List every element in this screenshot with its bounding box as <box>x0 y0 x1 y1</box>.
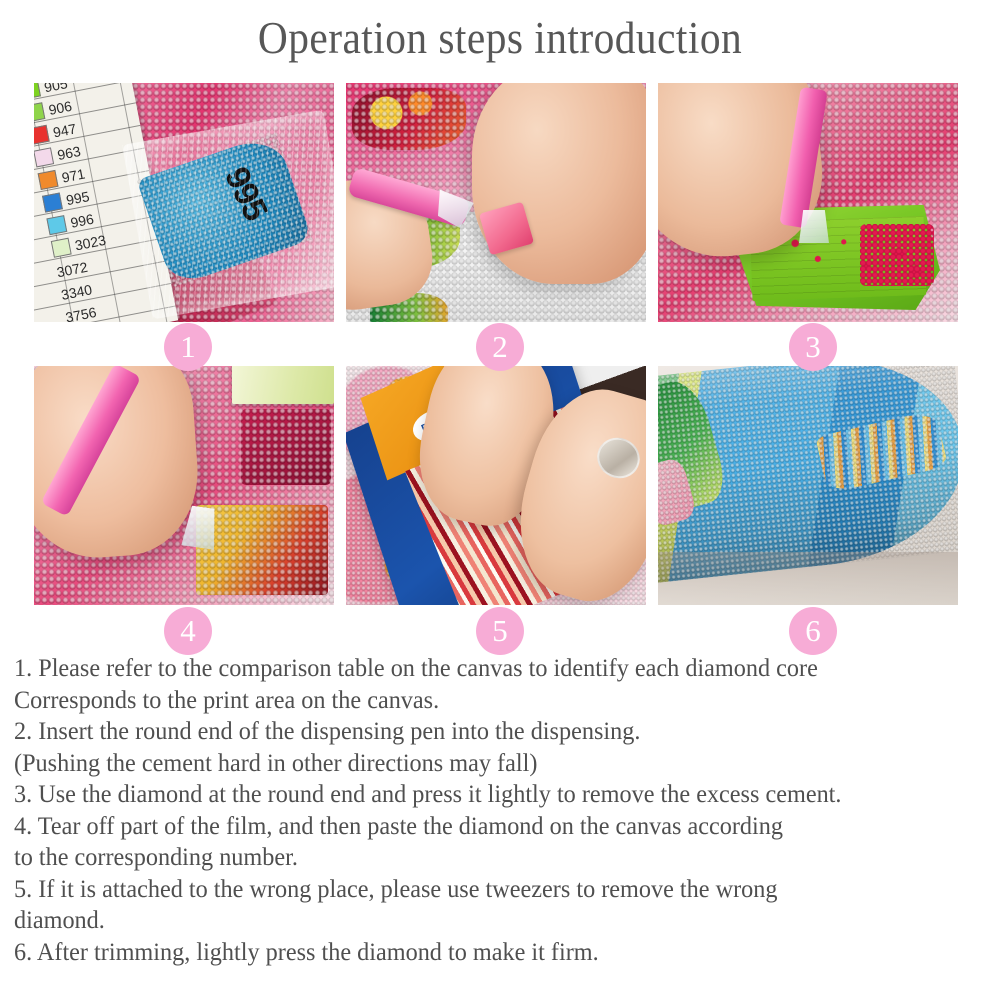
chart-swatch <box>42 192 63 212</box>
instructions-block: 1. Please refer to the comparison table … <box>14 652 940 967</box>
chart-number: 995 <box>65 187 91 207</box>
chart-code <box>34 273 52 279</box>
press-canvas-with-thread-box-photo: DMC <box>346 366 646 605</box>
instruction-line: to the corresponding number. <box>14 841 940 873</box>
photo-6-scene <box>658 366 958 605</box>
chart-number: 963 <box>56 142 82 162</box>
instruction-line: Corresponds to the print area on the can… <box>14 684 940 716</box>
paste-diamond-on-canvas-photo <box>34 366 334 605</box>
steps-row-top: 34 905 35 906 36 947 <box>34 83 966 322</box>
chart-number: 971 <box>60 165 86 185</box>
instruction-line: 5. If it is attached to the wrong place,… <box>14 873 940 905</box>
chart-code: 41 <box>34 221 44 240</box>
instruction-line: (Pushing the cement hard in other direct… <box>14 747 940 779</box>
chart-code <box>34 318 61 322</box>
blue-diamonds <box>137 132 313 287</box>
chart-number: 3340 <box>60 280 94 302</box>
chart-code: 39 <box>34 198 40 217</box>
page-title: Operation steps introduction <box>40 0 960 73</box>
chart-swatch <box>34 102 45 122</box>
step-badge-4: 4 <box>164 607 212 655</box>
chart-number: 996 <box>69 210 95 230</box>
chart-swatch <box>46 215 67 235</box>
bead-texture <box>137 132 313 287</box>
photo-3-scene <box>658 83 958 322</box>
instruction-line: 1. Please refer to the comparison table … <box>14 652 940 684</box>
step-badge-2: 2 <box>476 323 524 371</box>
chart-swatch <box>34 147 54 167</box>
chart-number: 906 <box>47 97 73 117</box>
right-hand <box>472 83 646 284</box>
step-badge-3: 3 <box>789 323 837 371</box>
pen-tip <box>799 210 829 243</box>
chart-number: 3756 <box>64 303 98 322</box>
kit-package <box>232 366 334 404</box>
rolled-canvas <box>658 366 958 583</box>
instruction-line: 6. After trimming, lightly press the dia… <box>14 936 940 968</box>
instruction-line: diamond. <box>14 904 940 936</box>
instruction-line: 4. Tear off part of the film, and then p… <box>14 810 940 842</box>
chart-swatch <box>51 237 72 257</box>
chart-number: 3023 <box>73 231 107 253</box>
bag-label: 995 <box>216 161 275 226</box>
chart-swatch <box>34 83 41 99</box>
chart-number: 947 <box>52 120 78 140</box>
step-badge-5: 5 <box>476 607 524 655</box>
drop-shadow <box>658 552 958 605</box>
instruction-line: 2. Insert the round end of the dispensin… <box>14 715 940 747</box>
insert-pen-into-cement-photo <box>346 83 646 322</box>
photo-2-scene <box>346 83 646 322</box>
instruction-line: 3. Use the diamond at the round end and … <box>14 778 940 810</box>
chart-swatch <box>34 124 50 144</box>
chart-code <box>34 295 56 301</box>
step-badge-1: 1 <box>164 323 212 371</box>
photo-5-scene: DMC <box>346 366 646 605</box>
rolled-finished-painting-photo <box>658 366 958 605</box>
chart-swatch <box>38 170 59 190</box>
steps-row-bottom: DMC <box>34 366 966 605</box>
pick-diamonds-from-tray-photo <box>658 83 958 322</box>
chart-number: 905 <box>43 83 69 95</box>
photo-1-scene: 34 905 35 906 36 947 <box>34 83 334 322</box>
diamond-bag: 995 <box>122 110 334 320</box>
chart-code: 38 <box>34 175 36 194</box>
color-chart-and-diamond-bag-photo: 34 905 35 906 36 947 <box>34 83 334 322</box>
chart-number: 3072 <box>55 258 89 280</box>
chart-code: # <box>34 243 49 262</box>
photo-4-scene <box>34 366 334 605</box>
bead-texture <box>658 366 958 583</box>
step-badge-6: 6 <box>789 607 837 655</box>
